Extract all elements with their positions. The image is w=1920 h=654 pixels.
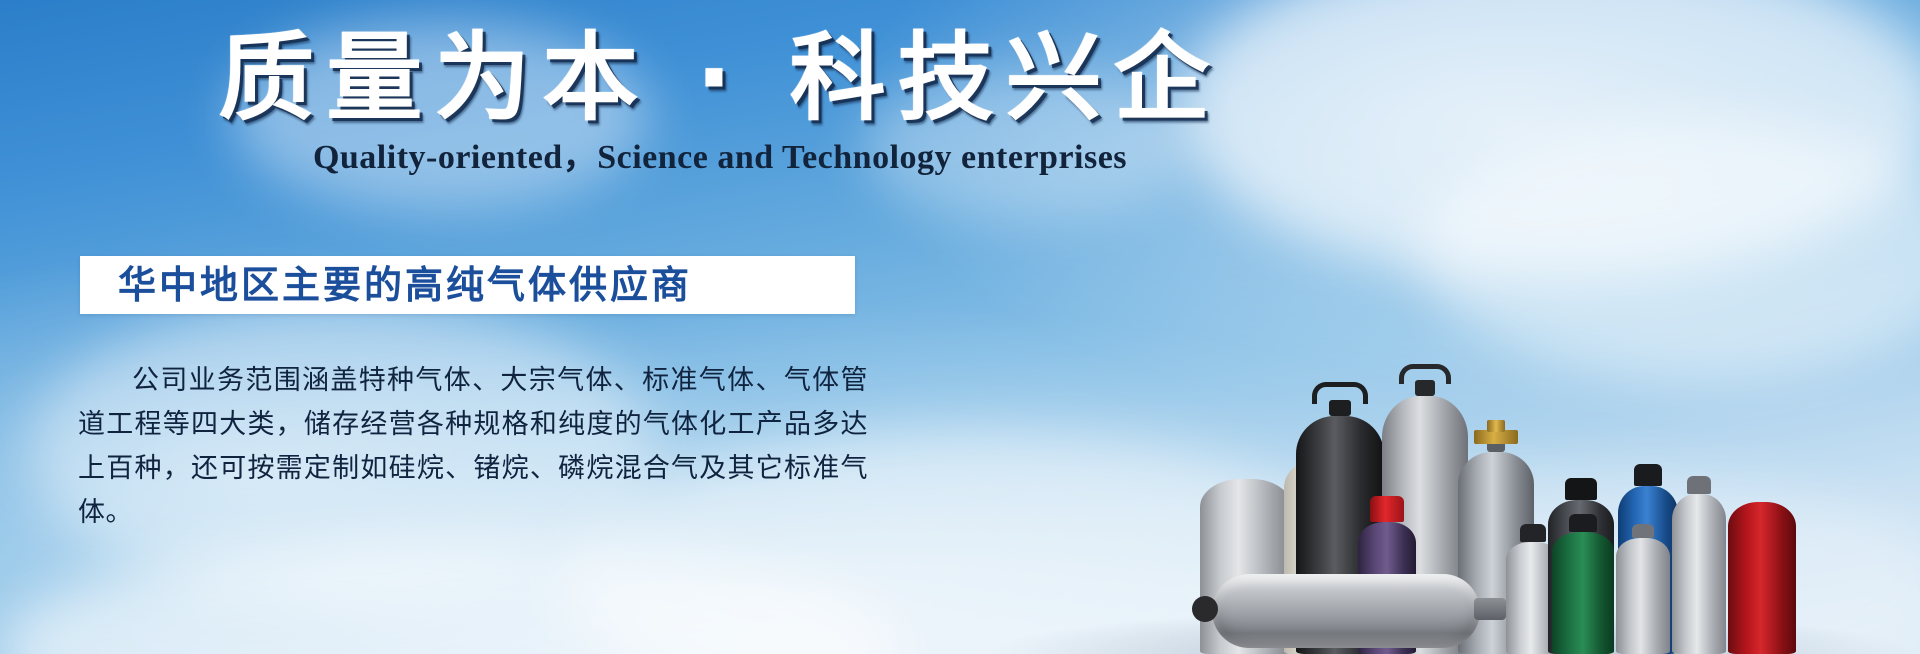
cylinder-cap: [1370, 496, 1404, 522]
green-cylinder: [1552, 518, 1614, 654]
gas-cylinders-group: [1200, 234, 1920, 654]
silver-small-cylinder: [1616, 526, 1670, 654]
horizontal-tank: [1212, 574, 1480, 648]
cylinder-handle: [1399, 364, 1451, 384]
tagline-text: 华中地区主要的高纯气体供应商: [80, 256, 692, 314]
brass-valve: [1474, 430, 1518, 444]
banner-headline: 质量为本 · 科技兴企: [0, 18, 1440, 138]
banner-body-text: 公司业务范围涵盖特种气体、大宗气体、标准气体、气体管道工程等四大类，储存经营各种…: [78, 358, 868, 534]
cylinder-cap: [1569, 514, 1597, 532]
tagline-box: 华中地区主要的高纯气体供应商: [80, 256, 855, 314]
cylinder-cap: [1565, 478, 1597, 500]
brass-valve-knob: [1487, 420, 1505, 432]
cylinder-cap: [1687, 476, 1711, 494]
red-cylinder: [1728, 502, 1796, 654]
promotional-banner: 质量为本 · 科技兴企 Quality-oriented，Science and…: [0, 0, 1920, 654]
cylinder-cap: [1520, 524, 1546, 542]
cylinder-handle: [1312, 382, 1368, 404]
cylinder-cap: [1632, 524, 1654, 538]
cylinder-cap: [1634, 464, 1662, 486]
silver-cylinder: [1672, 478, 1726, 654]
banner-subtitle: Quality-oriented，Science and Technology …: [0, 136, 1440, 180]
cloud-decoration: [0, 540, 900, 654]
